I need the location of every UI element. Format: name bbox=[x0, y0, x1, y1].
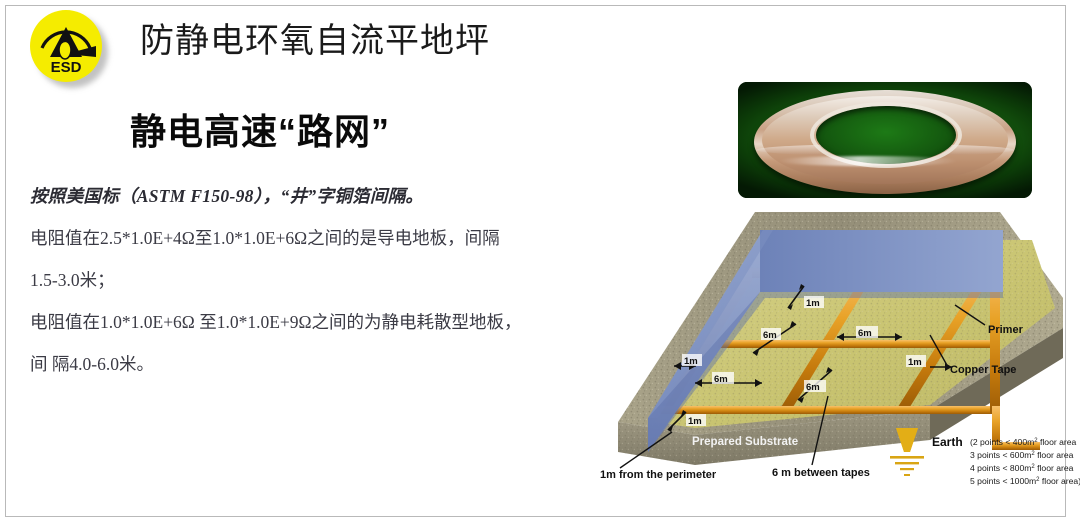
body-paragraph-conductive-2: 1.5-3.0米； bbox=[30, 259, 620, 301]
note-perimeter: 1m from the perimeter bbox=[600, 469, 717, 481]
copper-tape-photo bbox=[738, 82, 1032, 198]
esd-glyph-icon: ESD bbox=[30, 10, 102, 82]
dim-label-c: 6m bbox=[714, 374, 728, 385]
body-paragraph-dissipative-2: 间 隔4.0-6.0米。 bbox=[30, 343, 620, 385]
callout-substrate: Prepared Substrate bbox=[692, 436, 798, 448]
earth-label: Earth bbox=[932, 435, 963, 449]
note-between-tapes: 6 m between tapes bbox=[772, 467, 870, 479]
dim-label-b: 6m bbox=[858, 328, 872, 339]
body-paragraph-conductive-1: 电阻值在2.5*1.0E+4Ω至1.0*1.0E+6Ω之间的是导电地板，间隔 bbox=[30, 217, 620, 259]
slide-header: ESD 防静电环氧自流平地坪 bbox=[30, 8, 650, 88]
left-content-column: 静电高速“路网” 按照美国标（ASTM F150-98），“井”字铜箔间隔。 电… bbox=[30, 105, 620, 385]
earth-legend-line-2: 3 points < 600m2 floor area bbox=[970, 450, 1074, 460]
dim-label-d: 6m bbox=[806, 382, 820, 393]
body-text-block: 按照美国标（ASTM F150-98），“井”字铜箔间隔。 电阻值在2.5*1.… bbox=[30, 175, 620, 385]
diagram-svg: 1m 6m 6m 1m bbox=[600, 200, 1080, 490]
floor-system-diagram: 1m 6m 6m 1m bbox=[600, 200, 1080, 490]
page-title: 防静电环氧自流平地坪 bbox=[140, 20, 490, 64]
body-paragraph-dissipative-1: 电阻值在1.0*1.0E+6Ω 至1.0*1.0E+9Ω之间的为静电耗散型地板， bbox=[30, 301, 620, 343]
dim-label-right: 1m bbox=[908, 357, 922, 368]
dim-label-top: 1m bbox=[806, 298, 820, 309]
body-paragraph-standard: 按照美国标（ASTM F150-98），“井”字铜箔间隔。 bbox=[30, 175, 620, 217]
esd-symbol-icon: ESD bbox=[30, 10, 108, 88]
dim-label-left: 1m bbox=[684, 356, 698, 367]
tape-roll-highlight bbox=[778, 156, 958, 166]
section-heading: 静电高速“路网” bbox=[30, 105, 620, 159]
logo-text: ESD bbox=[51, 59, 82, 76]
callout-copper-tape: Copper Tape bbox=[950, 364, 1016, 376]
earth-legend-line-3: 4 points < 800m2 floor area bbox=[970, 463, 1074, 473]
slide-canvas: ESD 防静电环氧自流平地坪 静电高速“路网” 按照美国标（ASTM F150-… bbox=[0, 0, 1080, 525]
dim-label-a: 6m bbox=[763, 330, 777, 341]
callout-primer: Primer bbox=[988, 324, 1024, 336]
dim-label-bottom: 1m bbox=[688, 416, 702, 427]
earth-legend-line-4: 5 points < 1000m2 floor area) bbox=[970, 476, 1080, 486]
earth-legend-line-1: (2 points < 400m2 floor area bbox=[970, 437, 1077, 447]
